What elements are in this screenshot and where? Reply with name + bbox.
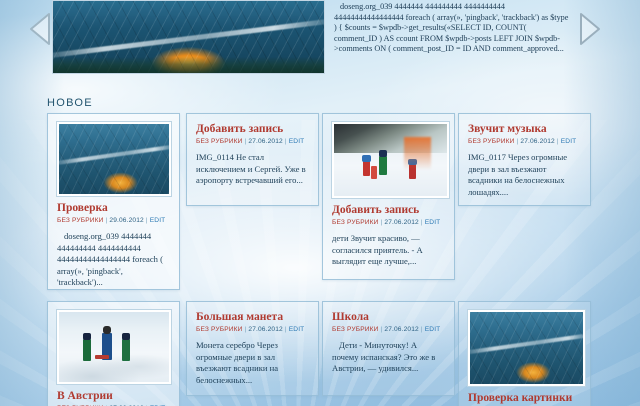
post-card-dobavit-zapis-2[interactable]: Добавить запись БЕЗ РУБРИКИ | 27.06.2012… xyxy=(322,113,455,280)
post-thumbnail[interactable] xyxy=(468,310,585,386)
post-edit-link[interactable]: EDIT xyxy=(425,326,441,333)
post-thumbnail[interactable] xyxy=(332,122,449,198)
post-category[interactable]: БЕЗ РУБРИКИ xyxy=(196,326,243,333)
post-edit-link[interactable]: EDIT xyxy=(289,138,305,145)
post-meta: БЕЗ РУБРИКИ | 27.06.2012 | EDIT xyxy=(196,137,309,146)
post-meta: БЕЗ РУБРИКИ | 27.06.2012 | EDIT xyxy=(468,137,581,146)
post-title[interactable]: Добавить запись xyxy=(196,122,309,136)
post-title[interactable]: Звучит музыка xyxy=(468,122,581,136)
meta-separator: | xyxy=(421,219,423,226)
post-meta: БЕЗ РУБРИКИ | 27.06.2012 | EDIT xyxy=(332,325,445,334)
skier-figure xyxy=(95,355,109,359)
skier-figure xyxy=(122,339,130,361)
post-card-proverka-kartinki[interactable]: Проверка картинки КИТАЙ | 25.06.2012 | E… xyxy=(458,301,591,406)
post-card-zvuchit-muzyka[interactable]: Звучит музыка БЕЗ РУБРИКИ | 27.06.2012 |… xyxy=(458,113,591,206)
post-card-shkola[interactable]: Школа БЕЗ РУБРИКИ | 27.06.2012 | EDIT Де… xyxy=(322,301,455,396)
post-excerpt: IMG_0117 Через огромные двери в зал въез… xyxy=(468,152,581,198)
post-card-bolshaya-maneta[interactable]: Большая манета БЕЗ РУБРИКИ | 27.06.2012 … xyxy=(186,301,319,396)
ski-group-thumb-image xyxy=(59,312,169,382)
post-meta: БЕЗ РУБРИКИ | 29.06.2012 | EDIT xyxy=(57,216,170,225)
post-title[interactable]: Добавить запись xyxy=(332,203,445,217)
ski-slope-thumb-image xyxy=(334,124,447,196)
meta-separator: | xyxy=(146,217,148,224)
post-date: 27.06.2012 xyxy=(384,326,419,333)
post-date: 27.06.2012 xyxy=(520,138,555,145)
post-grid: Проверка БЕЗ РУБРИКИ | 29.06.2012 | EDIT… xyxy=(0,0,640,406)
post-title[interactable]: Школа xyxy=(332,310,445,324)
post-meta: БЕЗ РУБРИКИ | 27.06.2012 | EDIT xyxy=(196,325,309,334)
great-wall-thumb-image xyxy=(59,124,169,194)
post-meta: БЕЗ РУБРИКИ | 27.06.2012 | EDIT xyxy=(332,218,445,227)
page-root: doseng.org_039 4444444 444444444 4444444… xyxy=(0,0,640,406)
meta-separator: | xyxy=(285,326,287,333)
post-excerpt: Монета серебро Через огромные двери в за… xyxy=(196,340,309,386)
skier-figure xyxy=(363,160,370,176)
post-category[interactable]: БЕЗ РУБРИКИ xyxy=(332,326,379,333)
post-category[interactable]: БЕЗ РУБРИКИ xyxy=(196,138,243,145)
skier-figure xyxy=(83,339,91,361)
post-title[interactable]: В Австрии xyxy=(57,389,170,403)
meta-separator: | xyxy=(517,138,519,145)
post-edit-link[interactable]: EDIT xyxy=(425,219,441,226)
post-card-v-avstrii[interactable]: В Австрии БЕЗ РУБРИКИ | 27.06.2012 | EDI… xyxy=(47,301,180,406)
meta-separator: | xyxy=(285,138,287,145)
skier-figure xyxy=(371,166,377,179)
skier-figure xyxy=(409,164,416,179)
meta-separator: | xyxy=(381,219,383,226)
post-date: 29.06.2012 xyxy=(109,217,144,224)
post-edit-link[interactable]: EDIT xyxy=(561,138,577,145)
meta-separator: | xyxy=(381,326,383,333)
post-excerpt: IMG_0114 Не стал исключением и Сергей. У… xyxy=(196,152,309,187)
post-excerpt: Дети - Минуточку! А почему испанская? Эт… xyxy=(332,340,445,375)
post-thumbnail[interactable] xyxy=(57,310,171,384)
post-date: 27.06.2012 xyxy=(384,219,419,226)
post-date: 27.06.2012 xyxy=(248,326,283,333)
post-title[interactable]: Проверка xyxy=(57,201,170,215)
meta-separator: | xyxy=(421,326,423,333)
meta-separator: | xyxy=(245,326,247,333)
post-title[interactable]: Проверка картинки xyxy=(468,391,581,405)
post-title[interactable]: Большая манета xyxy=(196,310,309,324)
post-edit-link[interactable]: EDIT xyxy=(289,326,305,333)
post-edit-link[interactable]: EDIT xyxy=(150,217,166,224)
post-excerpt: дети Звучит красиво, — согласился прияте… xyxy=(332,233,445,268)
great-wall-thumb-image xyxy=(470,312,583,384)
meta-separator: | xyxy=(245,138,247,145)
post-card-dobavit-zapis-1[interactable]: Добавить запись БЕЗ РУБРИКИ | 27.06.2012… xyxy=(186,113,319,206)
meta-separator: | xyxy=(557,138,559,145)
meta-separator: | xyxy=(106,217,108,224)
post-excerpt: doseng.org_039 4444444 444444444 4444444… xyxy=(57,231,170,289)
post-thumbnail[interactable] xyxy=(57,122,171,196)
skier-figure xyxy=(379,156,387,175)
post-card-proverka[interactable]: Проверка БЕЗ РУБРИКИ | 29.06.2012 | EDIT… xyxy=(47,113,180,290)
post-category[interactable]: БЕЗ РУБРИКИ xyxy=(57,217,104,224)
post-category[interactable]: БЕЗ РУБРИКИ xyxy=(332,219,379,226)
post-category[interactable]: БЕЗ РУБРИКИ xyxy=(468,138,515,145)
post-date: 27.06.2012 xyxy=(248,138,283,145)
